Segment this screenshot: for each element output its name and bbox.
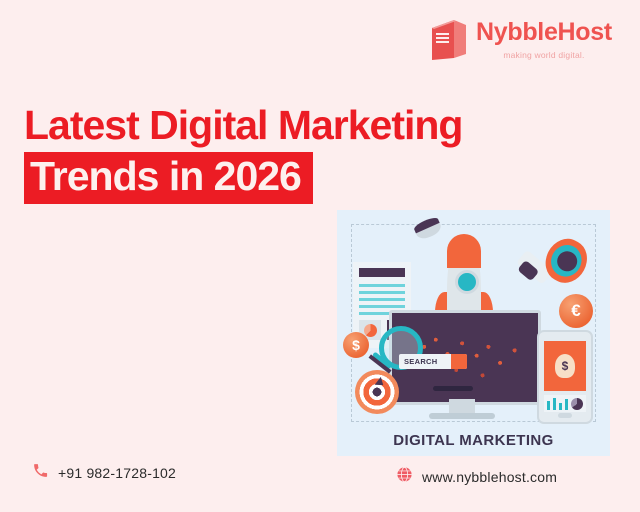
- brand-logo[interactable]: NybbleHost making world digital.: [430, 18, 612, 62]
- idea-bulb-icon: $: [555, 354, 575, 378]
- target-dartboard-icon: [355, 370, 399, 414]
- headline-line-1: Latest Digital Marketing: [24, 104, 462, 147]
- phone-stats-icon: [544, 395, 586, 412]
- phone-number: +91 982-1728-102: [58, 465, 176, 481]
- headline-line-2: Trends in 2026: [30, 155, 301, 198]
- globe-icon: [396, 466, 413, 488]
- footer-website[interactable]: www.nybblehost.com: [396, 466, 557, 488]
- search-label: SEARCH: [399, 357, 437, 366]
- headline: Latest Digital Marketing Trends in 2026: [24, 104, 462, 204]
- headline-highlight-block: Trends in 2026: [24, 152, 313, 204]
- search-bar[interactable]: SEARCH: [399, 354, 467, 369]
- illustration-panel: SEARCH $ € $ DIGITAL MARKETING: [337, 210, 610, 456]
- dollar-coin-icon: $: [343, 332, 369, 358]
- brand-name: NybbleHost: [476, 20, 612, 45]
- server-box-icon: [430, 18, 468, 62]
- marketing-banner: NybbleHost making world digital. Latest …: [0, 0, 640, 512]
- smartphone-icon: $: [537, 330, 593, 424]
- footer-phone[interactable]: +91 982-1728-102: [32, 462, 176, 484]
- monitor-stand-bar: [433, 386, 473, 391]
- monitor-base: [429, 413, 495, 419]
- euro-coin-icon: €: [559, 294, 593, 328]
- illustration-caption: DIGITAL MARKETING: [337, 432, 610, 449]
- brand-tagline: making world digital.: [503, 50, 584, 60]
- website-url: www.nybblehost.com: [422, 469, 557, 485]
- phone-icon: [32, 462, 49, 484]
- search-button-icon[interactable]: [451, 354, 467, 369]
